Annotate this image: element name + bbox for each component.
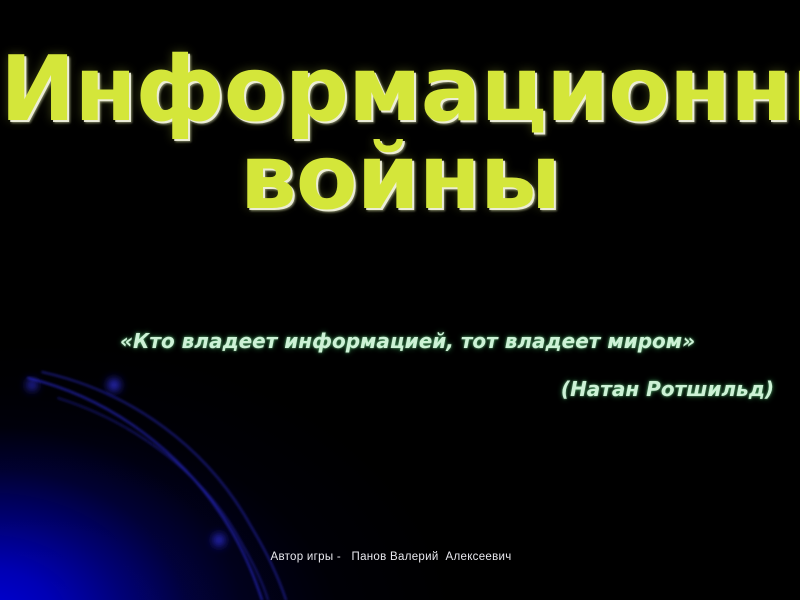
title-line-1: Информационные bbox=[0, 46, 800, 134]
quote-attribution: (Натан Ротшильд) bbox=[120, 376, 780, 402]
quote-text: «Кто владеет информацией, тот владеет ми… bbox=[120, 328, 780, 354]
presentation-slide: Информационные войны «Кто владеет информ… bbox=[0, 0, 800, 600]
quote-block: «Кто владеет информацией, тот владеет ми… bbox=[120, 328, 780, 402]
footer-credit: Автор игры - Панов Валерий Алексеевич bbox=[0, 551, 800, 563]
page-title: Информационные войны bbox=[0, 46, 800, 222]
title-line-2: войны bbox=[0, 134, 800, 222]
